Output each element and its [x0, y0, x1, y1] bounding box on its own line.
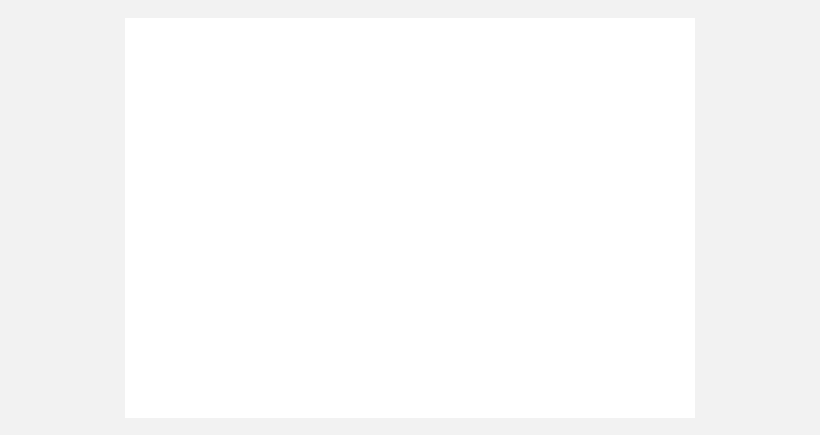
plot-card	[125, 18, 695, 418]
figure-canvas: 0.60.70.80.911.11.21.3 10110-110-2 σ [pb…	[0, 0, 820, 435]
